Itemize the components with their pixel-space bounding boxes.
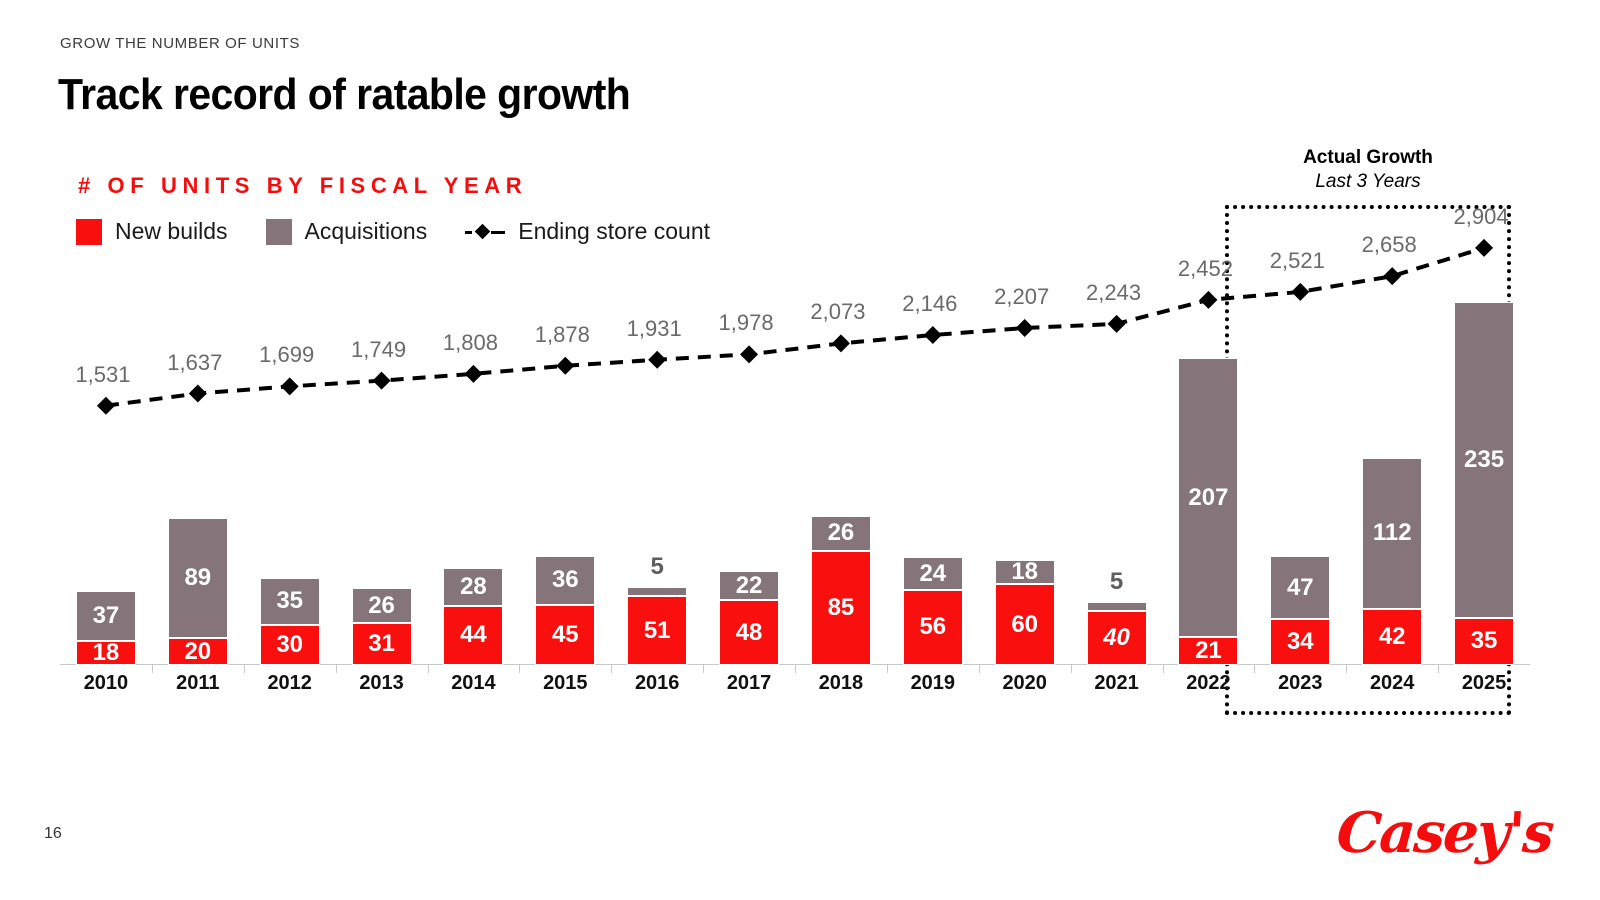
diamond-marker-2012[interactable] — [281, 377, 299, 395]
store-count-label-2017: 1,978 — [719, 310, 774, 336]
diamond-marker-2025[interactable] — [1475, 239, 1493, 257]
x-axis-label-2016: 2016 — [611, 672, 703, 695]
diamond-marker-2021[interactable] — [1108, 315, 1126, 333]
x-axis-label-2019: 2019 — [887, 672, 979, 695]
x-axis-label-2011: 2011 — [152, 672, 244, 695]
caseys-logo: Casey's — [1334, 800, 1554, 866]
diamond-marker-2016[interactable] — [648, 351, 666, 369]
diamond-marker-2024[interactable] — [1383, 267, 1401, 285]
store-count-label-2015: 1,878 — [535, 322, 590, 348]
store-count-label-2011: 1,637 — [167, 350, 222, 376]
x-axis-label-2021: 2021 — [1071, 672, 1163, 695]
store-count-label-2016: 1,931 — [627, 316, 682, 342]
x-axis-label-2022: 2022 — [1163, 672, 1255, 695]
store-count-label-2012: 1,699 — [259, 342, 314, 368]
x-axis-label-2024: 2024 — [1346, 672, 1438, 695]
page-number: 16 — [44, 825, 62, 843]
callout-subtitle: Last 3 Years — [1225, 171, 1511, 193]
store-count-label-2019: 2,146 — [902, 291, 957, 317]
diamond-marker-2011[interactable] — [189, 385, 207, 403]
store-count-label-2020: 2,207 — [994, 284, 1049, 310]
x-axis-label-2012: 2012 — [244, 672, 336, 695]
diamond-marker-2014[interactable] — [464, 365, 482, 383]
store-count-label-2010: 1,531 — [75, 362, 130, 388]
x-axis-label-2018: 2018 — [795, 672, 887, 695]
x-axis-label-2013: 2013 — [336, 672, 428, 695]
x-axis-label-2020: 2020 — [979, 672, 1071, 695]
store-count-label-2018: 2,073 — [810, 299, 865, 325]
page-title: Track record of ratable growth — [58, 70, 630, 120]
store-count-label-2021: 2,243 — [1086, 280, 1141, 306]
slide-canvas: GROW THE NUMBER OF UNITS Track record of… — [0, 0, 1600, 900]
diamond-marker-2015[interactable] — [556, 357, 574, 375]
x-axis-label-2014: 2014 — [428, 672, 520, 695]
x-axis-label-2017: 2017 — [703, 672, 795, 695]
diamond-marker-2019[interactable] — [924, 326, 942, 344]
x-axis-label-2025: 2025 — [1438, 672, 1530, 695]
x-axis-labels: 2010201120122013201420152016201720182019… — [60, 672, 1530, 702]
diamond-marker-2018[interactable] — [832, 334, 850, 352]
store-count-label-2014: 1,808 — [443, 330, 498, 356]
callout-title: Actual Growth — [1225, 147, 1511, 169]
diamond-marker-2013[interactable] — [373, 372, 391, 390]
diamond-marker-2020[interactable] — [1016, 319, 1034, 337]
store-count-label-2013: 1,749 — [351, 337, 406, 363]
chart-subtitle: # OF UNITS BY FISCAL YEAR — [78, 173, 527, 199]
slide-eyebrow: GROW THE NUMBER OF UNITS — [60, 35, 300, 52]
diamond-marker-2022[interactable] — [1199, 291, 1217, 309]
store-count-label-2023: 2,521 — [1270, 248, 1325, 274]
diamond-marker-2023[interactable] — [1291, 283, 1309, 301]
x-axis-label-2015: 2015 — [519, 672, 611, 695]
store-count-label-2024: 2,658 — [1362, 232, 1417, 258]
x-axis-label-2010: 2010 — [60, 672, 152, 695]
diamond-marker-2017[interactable] — [740, 345, 758, 363]
store-count-label-2025: 2,904 — [1454, 204, 1509, 230]
x-axis-label-2023: 2023 — [1254, 672, 1346, 695]
store-count-label-2022: 2,452 — [1178, 256, 1233, 282]
diamond-marker-2010[interactable] — [97, 397, 115, 415]
chart-plot-area: 3718892035302631284436455512248268524561… — [60, 200, 1530, 665]
